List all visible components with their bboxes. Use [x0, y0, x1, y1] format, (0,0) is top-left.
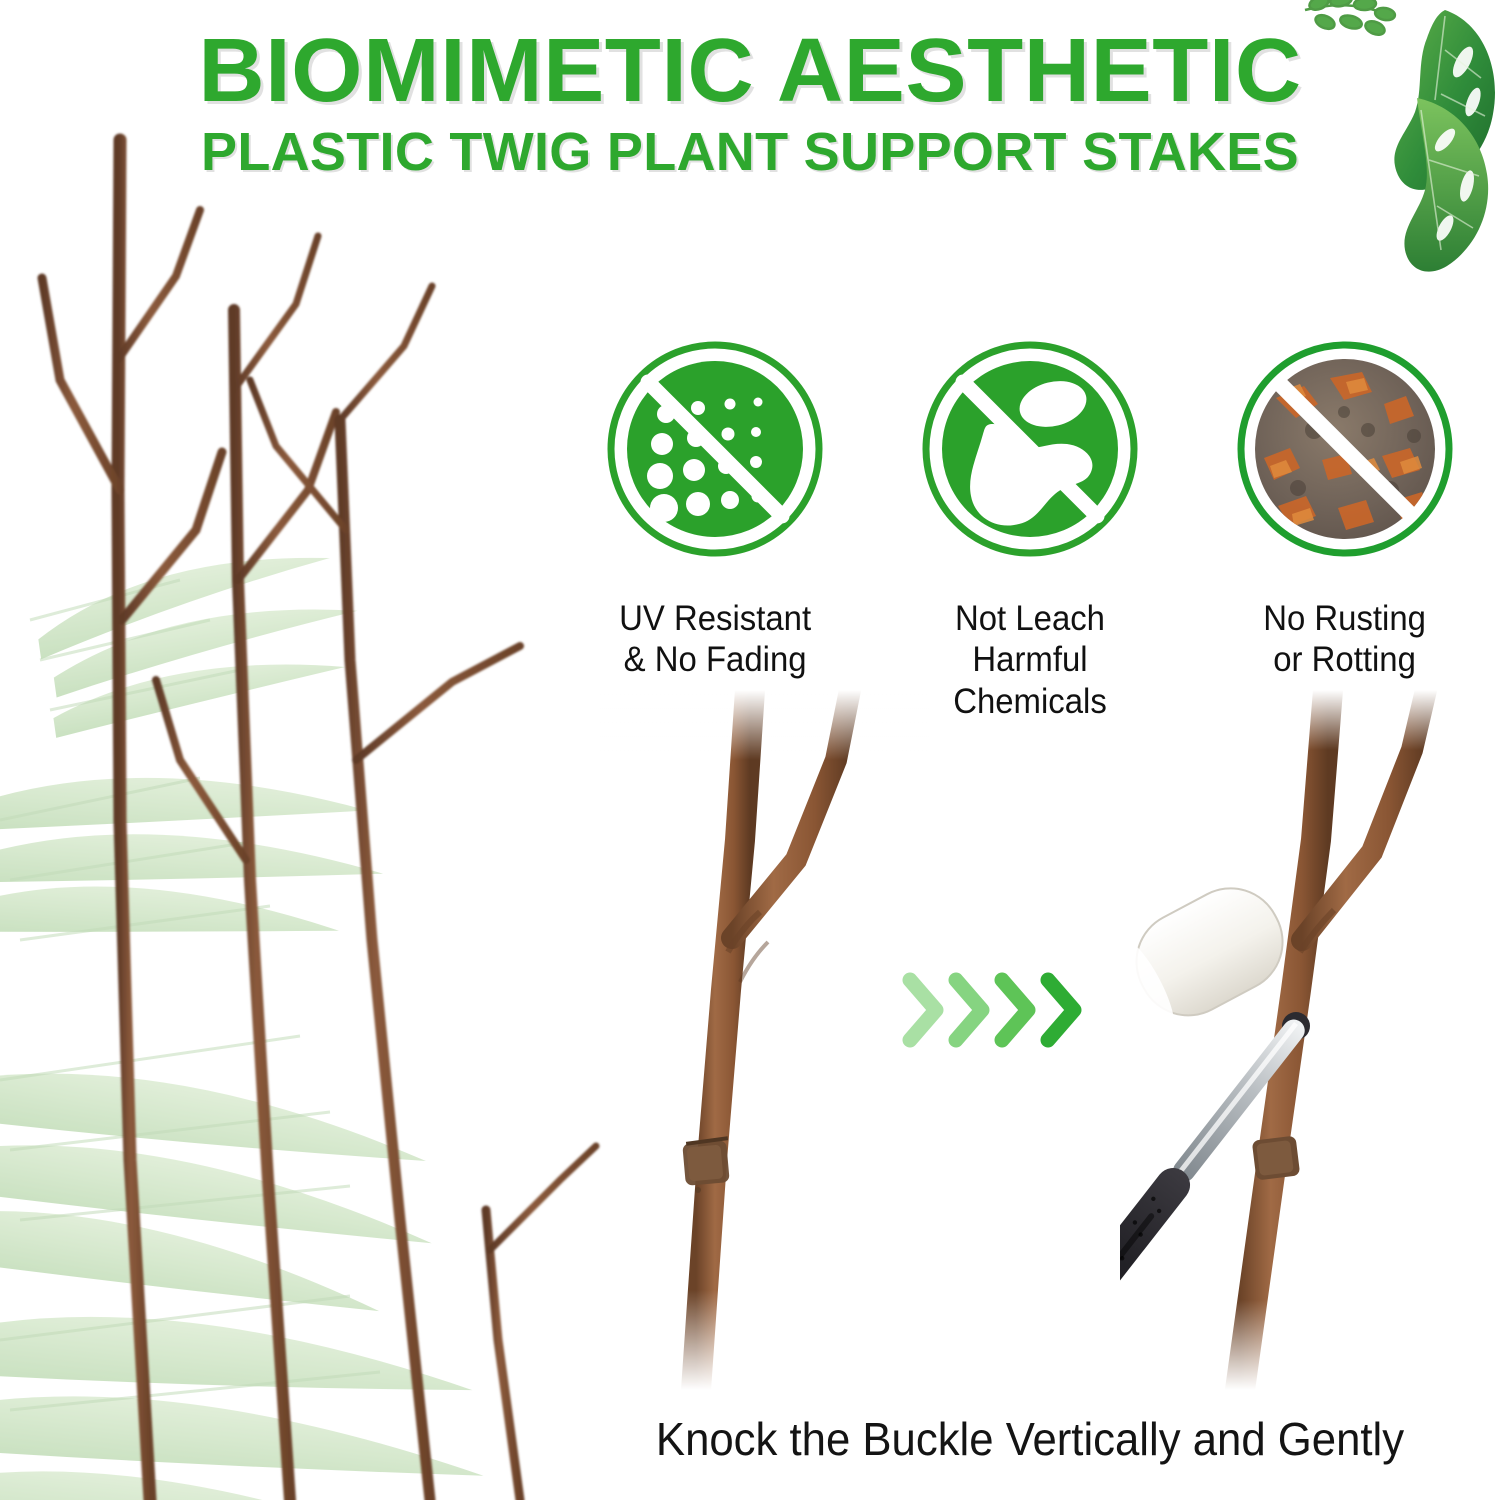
- chevron-icon-2: [956, 980, 982, 1040]
- feature-caption-not-leach: Not Leach Harmful Chemicals: [903, 598, 1157, 722]
- no-chemical-leach-icon: [919, 338, 1141, 560]
- header: BIOMIMETIC AESTHETIC PLASTIC TWIG PLANT …: [0, 26, 1500, 180]
- chevron-icon-3: [1002, 980, 1028, 1040]
- chevron-icon-4: [1048, 980, 1074, 1040]
- page-title: BIOMIMETIC AESTHETIC: [0, 26, 1500, 118]
- page-subtitle: PLASTIC TWIG PLANT SUPPORT STAKES: [0, 124, 1500, 181]
- feature-list: UV Resistant & No Fading Not Leach Harmf…: [580, 338, 1480, 722]
- twig-stakes-in-plant-illustration: [0, 60, 620, 1500]
- no-uv-fading-icon: [604, 338, 826, 560]
- no-rust-rot-icon: [1234, 338, 1456, 560]
- feature-caption-no-rusting: No Rusting or Rotting: [1264, 598, 1427, 681]
- left-product-scene: [0, 60, 620, 1500]
- buckle-connector: [1252, 1135, 1301, 1180]
- chevron-icon-1: [910, 980, 936, 1040]
- twig-stake-struck-by-mallet-photo: [1120, 690, 1500, 1390]
- twig-stake-with-buckle-photo: [600, 690, 930, 1390]
- instruction-caption: Knock the Buckle Vertically and Gently: [584, 1412, 1477, 1466]
- progress-arrows: [900, 955, 1110, 1065]
- feature-item-not-leach: Not Leach Harmful Chemicals: [895, 338, 1165, 722]
- feature-caption-uv-resistant: UV Resistant & No Fading: [619, 598, 811, 681]
- feature-item-no-rusting: No Rusting or Rotting: [1210, 338, 1480, 722]
- feature-item-uv-resistant: UV Resistant & No Fading: [580, 338, 850, 722]
- product-marketing-image: BIOMIMETIC AESTHETIC PLASTIC TWIG PLANT …: [0, 0, 1500, 1500]
